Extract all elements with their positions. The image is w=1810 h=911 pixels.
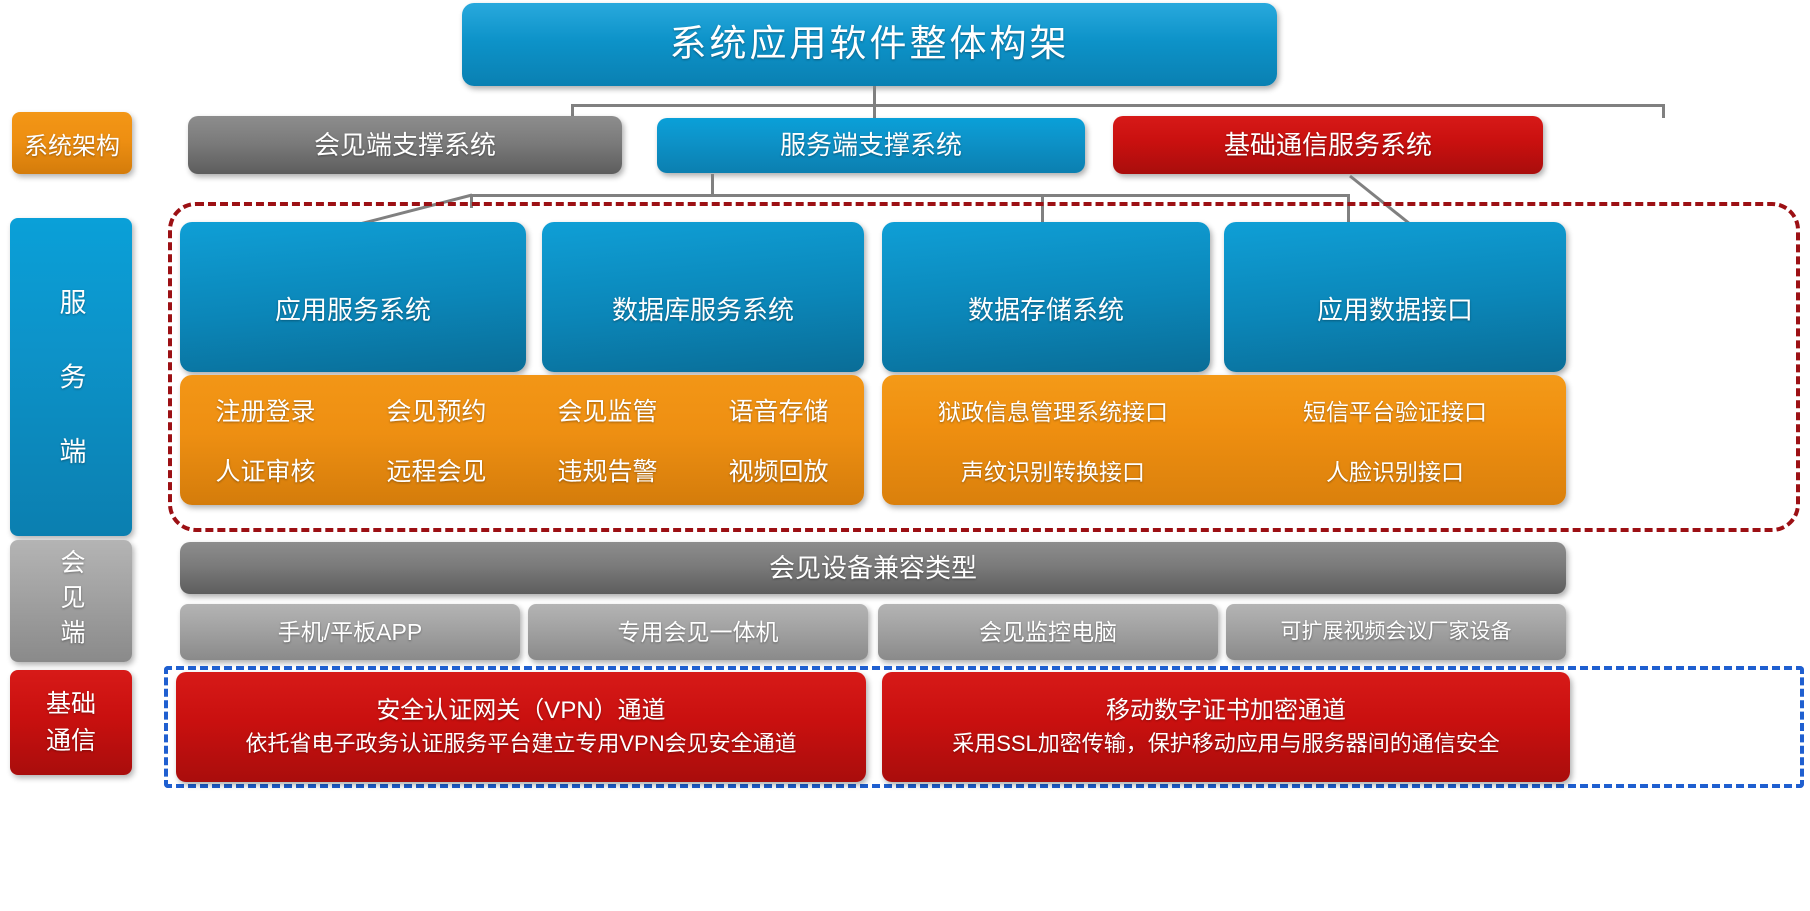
connector-server-stem <box>711 174 714 196</box>
capability-panel-right: 狱政信息管理系统接口 短信平台验证接口 声纹识别转换接口 人脸识别接口 <box>882 375 1566 505</box>
support-system-server[interactable]: 服务端支撑系统 <box>657 118 1085 173</box>
device-compat-title: 会见设备兼容类型 <box>180 542 1566 594</box>
base-comm-title: 移动数字证书加密通道 <box>1106 696 1346 726</box>
connector-horizontal-title <box>571 104 1665 107</box>
service-box-database[interactable]: 数据库服务系统 <box>542 222 864 372</box>
rail-base-line1: 基础 <box>46 686 96 722</box>
device-box-dedicated-terminal[interactable]: 专用会见一体机 <box>528 604 868 660</box>
support-system-meeting-client[interactable]: 会见端支撑系统 <box>188 116 622 174</box>
capability-panel-left: 注册登录 会见预约 会见监管 语音存储 人证审核 远程会见 违规告警 视频回放 <box>180 375 864 505</box>
capability-item[interactable]: 违规告警 <box>522 440 693 500</box>
base-comm-desc: 采用SSL加密传输，保护移动应用与服务器间的通信安全 <box>952 730 1500 758</box>
rail-label-architecture: 系统架构 <box>12 112 132 174</box>
device-box-video-conf-vendor[interactable]: 可扩展视频会议厂家设备 <box>1226 604 1566 660</box>
service-box-application[interactable]: 应用服务系统 <box>180 222 526 372</box>
support-system-base-comm[interactable]: 基础通信服务系统 <box>1113 116 1543 174</box>
rail-label-server-side: 服 务 端 <box>10 218 132 536</box>
capability-item[interactable]: 视频回放 <box>693 440 864 500</box>
capability-item[interactable]: 人脸识别接口 <box>1224 440 1566 500</box>
page-title: 系统应用软件整体构架 <box>462 3 1277 86</box>
rail-label-base-comm: 基础 通信 <box>10 670 132 775</box>
capability-item[interactable]: 狱政信息管理系统接口 <box>882 380 1224 440</box>
base-comm-box-cert[interactable]: 移动数字证书加密通道 采用SSL加密传输，保护移动应用与服务器间的通信安全 <box>882 672 1570 782</box>
capability-item[interactable]: 注册登录 <box>180 380 351 440</box>
service-box-data-interface[interactable]: 应用数据接口 <box>1224 222 1566 372</box>
base-comm-box-vpn[interactable]: 安全认证网关（VPN）通道 依托省电子政务认证服务平台建立专用VPN会见安全通道 <box>176 672 866 782</box>
capability-item[interactable]: 会见预约 <box>351 380 522 440</box>
connector-service-bus <box>470 194 1350 197</box>
base-comm-title: 安全认证网关（VPN）通道 <box>376 696 665 726</box>
device-box-monitor-pc[interactable]: 会见监控电脑 <box>878 604 1218 660</box>
capability-item[interactable]: 会见监管 <box>522 380 693 440</box>
device-box-mobile-app[interactable]: 手机/平板APP <box>180 604 520 660</box>
capability-item[interactable]: 短信平台验证接口 <box>1224 380 1566 440</box>
capability-item[interactable]: 远程会见 <box>351 440 522 500</box>
connector-down-base <box>1662 104 1665 118</box>
rail-label-meeting-side: 会见端 <box>10 540 132 662</box>
capability-item[interactable]: 声纹识别转换接口 <box>882 440 1224 500</box>
service-box-storage[interactable]: 数据存储系统 <box>882 222 1210 372</box>
rail-base-line2: 通信 <box>46 723 96 759</box>
capability-item[interactable]: 语音存储 <box>693 380 864 440</box>
base-comm-desc: 依托省电子政务认证服务平台建立专用VPN会见安全通道 <box>245 730 796 758</box>
capability-item[interactable]: 人证审核 <box>180 440 351 500</box>
